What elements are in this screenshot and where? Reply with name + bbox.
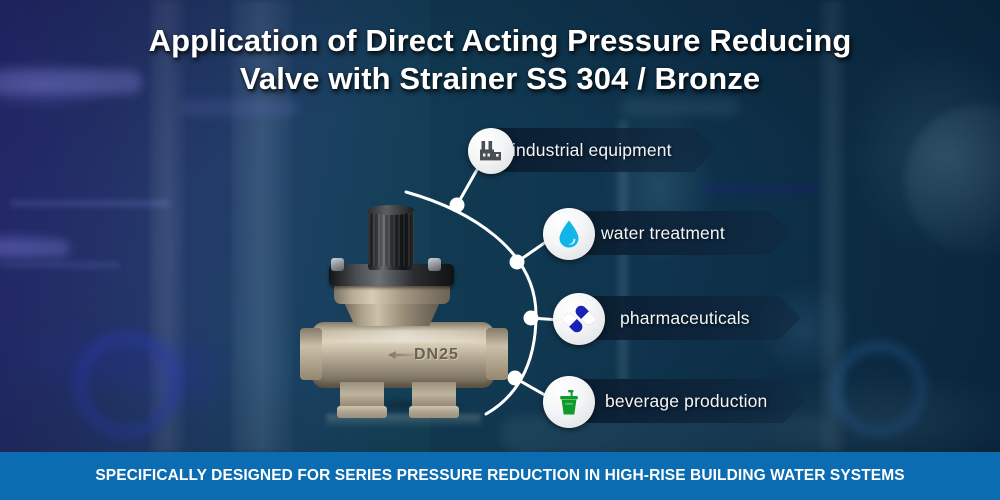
connector-node-3 [524, 311, 539, 326]
factory-icon [478, 138, 504, 164]
badge-label: pharmaceuticals [620, 296, 750, 340]
product-reflection [326, 414, 481, 428]
valve-bolt-left [331, 258, 344, 271]
valve-bolt-right [428, 258, 441, 271]
valve-body-highlight [322, 329, 482, 342]
badge-icon-container [543, 376, 595, 428]
valve-flange [334, 284, 450, 304]
badge-icon-container [553, 293, 605, 345]
water-drop-icon [556, 219, 582, 249]
badge-label: water treatment [601, 211, 725, 255]
product-image-pressure-reducing-valve: DN25 [296, 196, 512, 428]
valve-size-marking: DN25 [414, 346, 459, 364]
pills-icon [564, 304, 594, 334]
badge-label: beverage production [605, 379, 767, 423]
bottom-banner-text: SPECIFICALLY DESIGNED FOR SERIES PRESSUR… [95, 467, 904, 485]
valve-outlet-port [486, 328, 508, 380]
valve-adjusting-cap-ribs [368, 212, 414, 266]
valve-adjusting-cap-top [368, 205, 414, 215]
valve-inlet-port [300, 328, 322, 380]
promo-banner: Application of Direct Acting Pressure Re… [0, 0, 1000, 500]
bottom-banner: SPECIFICALLY DESIGNED FOR SERIES PRESSUR… [0, 452, 1000, 500]
beverage-cup-icon [555, 387, 583, 417]
badge-label: industrial equipment [512, 128, 672, 172]
badge-icon-container [543, 208, 595, 260]
badge-icon-container [468, 128, 514, 174]
